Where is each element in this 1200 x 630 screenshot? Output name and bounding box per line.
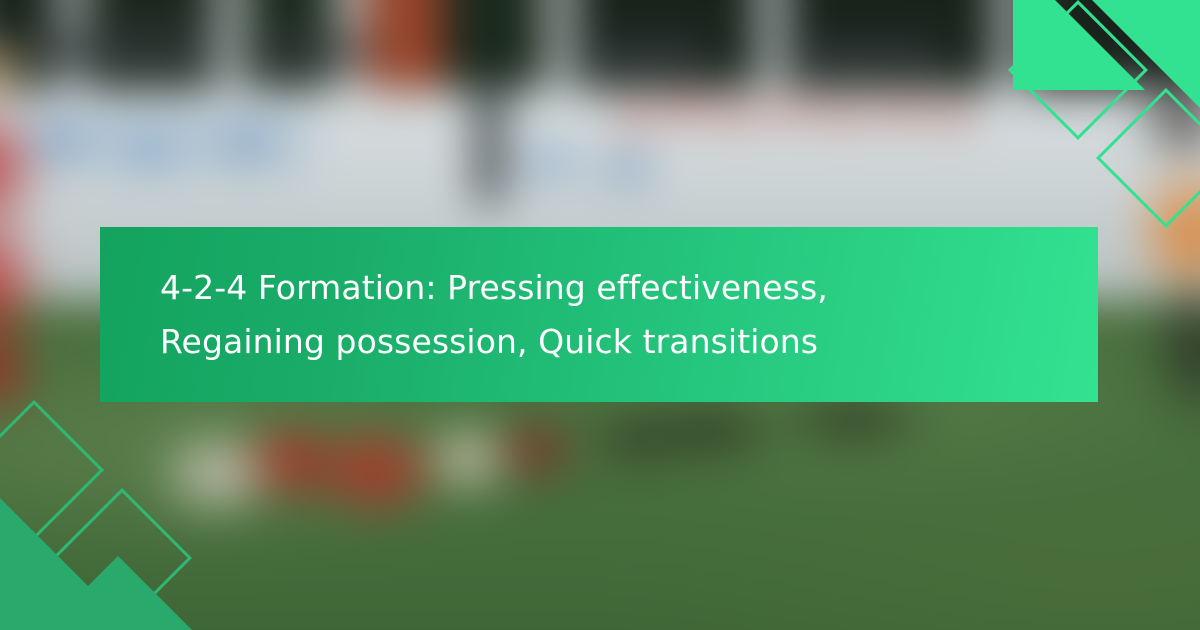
red-sponsor-signage [613, 86, 983, 135]
player-red-left [0, 45, 72, 405]
stadium-post [475, 83, 504, 203]
signage-bar [587, 42, 712, 68]
title-line-1: 4-2-4 Formation: Pressing effectiveness, [160, 261, 1038, 315]
signage-bar [795, 44, 947, 70]
blue-advertising-hoarding [494, 135, 679, 195]
player-orange-right [1115, 90, 1200, 480]
title-line-2: Regaining possession, Quick transitions [160, 315, 1038, 369]
signage-bar [65, 36, 217, 63]
title-banner: 4-2-4 Formation: Pressing effectiveness,… [100, 227, 1098, 402]
signage-bar [262, 39, 368, 63]
share-card: 4-2-4 Formation: Pressing effectiveness,… [0, 0, 1200, 630]
